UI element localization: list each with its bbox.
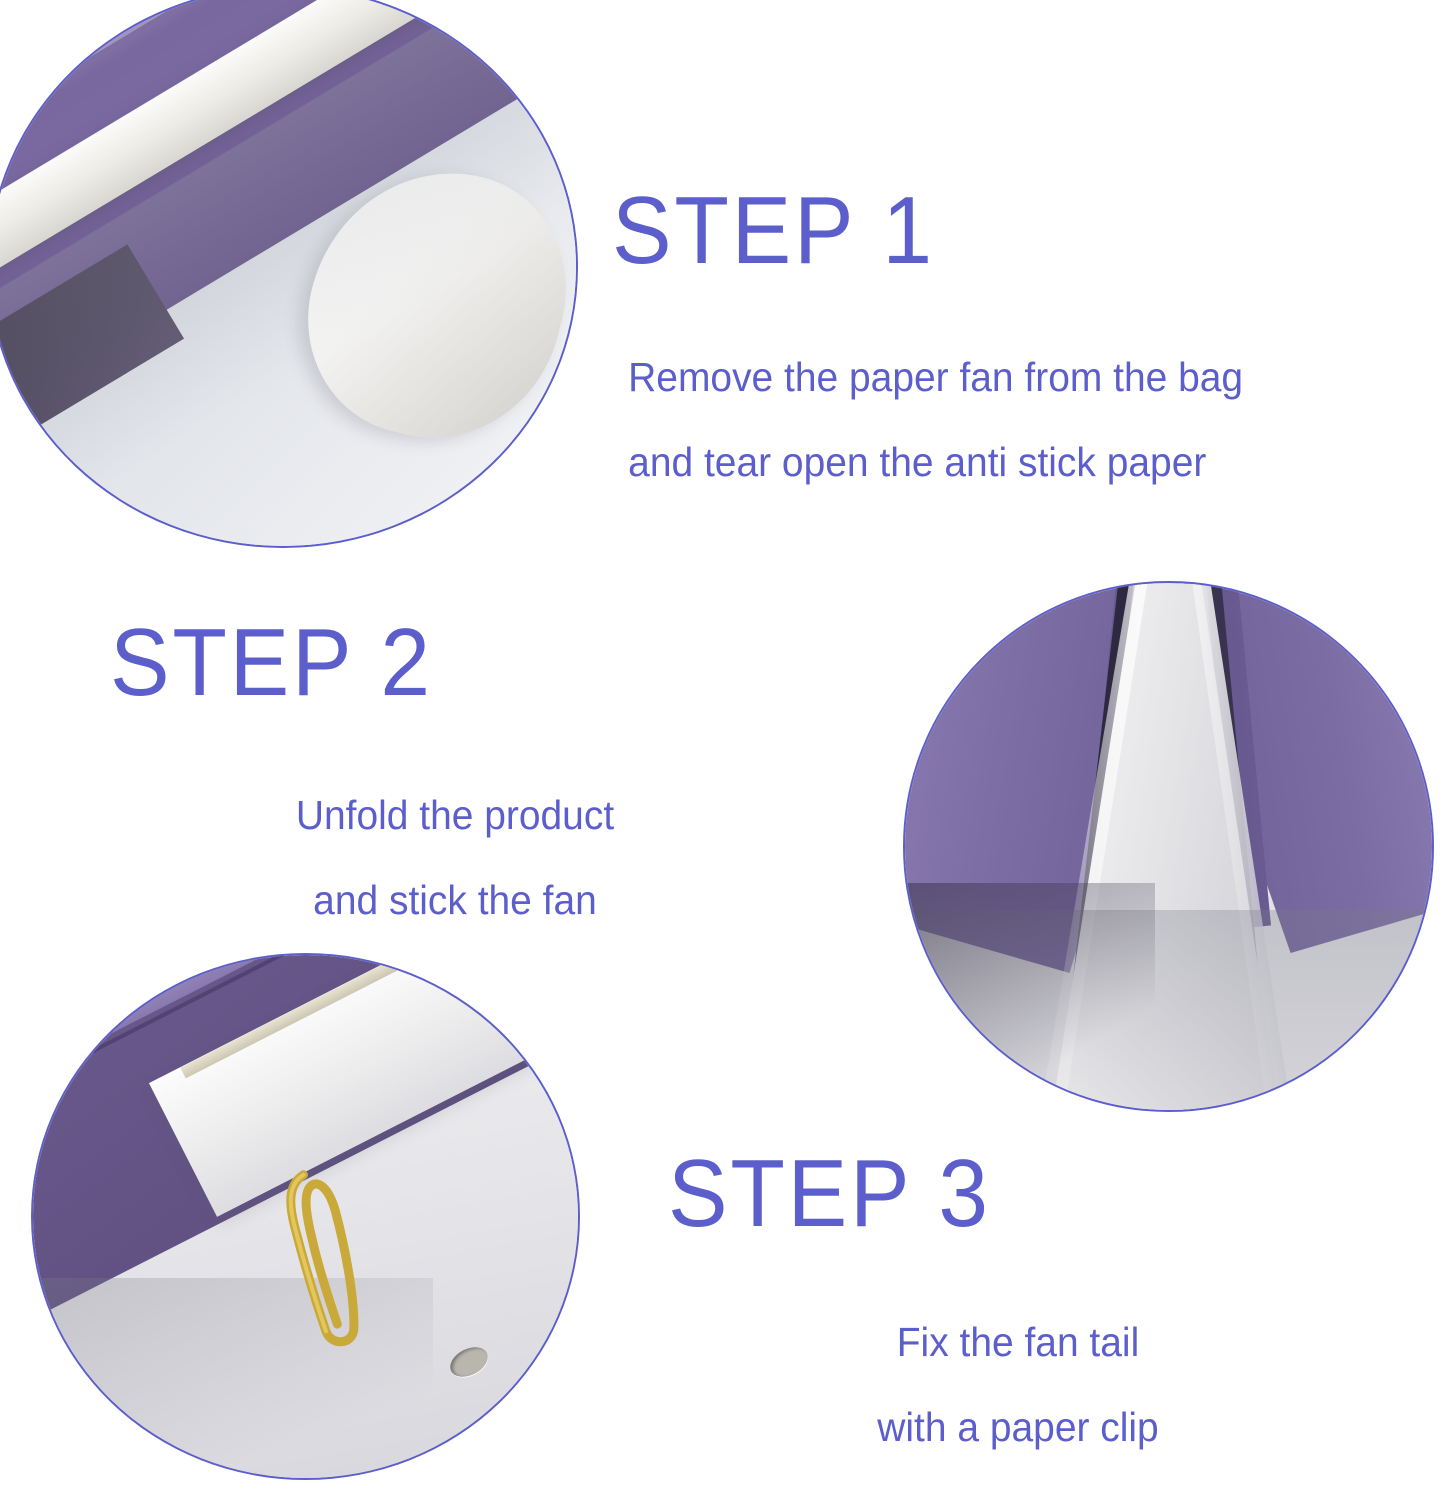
- step-1-text-block: STEP 1 Remove the paper fan from the bag…: [612, 183, 1259, 483]
- step-2-photo-scene: [905, 583, 1432, 1110]
- step-1-line-1: Remove the paper fan from the bag: [628, 357, 1243, 398]
- step-3-photo-scene: [33, 955, 578, 1478]
- step-1-photo: [0, 0, 578, 548]
- step-3-line-2: with a paper clip: [686, 1407, 1351, 1448]
- step-1-photo-scene: [0, 0, 576, 546]
- step-3-text-block: STEP 3 Fix the fan tail with a paper cli…: [668, 1146, 1368, 1448]
- step-1-heading: STEP 1: [612, 183, 1214, 279]
- step-3-photo: [31, 953, 580, 1480]
- step-3-heading: STEP 3: [668, 1146, 1319, 1242]
- step-3-line-1: Fix the fan tail: [686, 1322, 1351, 1363]
- instruction-infographic: STEP 1 Remove the paper fan from the bag…: [0, 0, 1445, 1497]
- step-2-line-1: Unfold the product: [127, 795, 783, 836]
- surface-shadow: [33, 1278, 433, 1478]
- step-2-heading: STEP 2: [110, 615, 752, 711]
- step-2-text-block: STEP 2 Unfold the product and stick the …: [110, 615, 800, 921]
- surface-shadow: [905, 883, 1155, 1110]
- hanging-hole: [445, 1341, 492, 1382]
- step-2-photo: [903, 581, 1434, 1112]
- step-2-line-2: and stick the fan: [127, 880, 783, 921]
- step-1-line-2: and tear open the anti stick paper: [628, 442, 1243, 483]
